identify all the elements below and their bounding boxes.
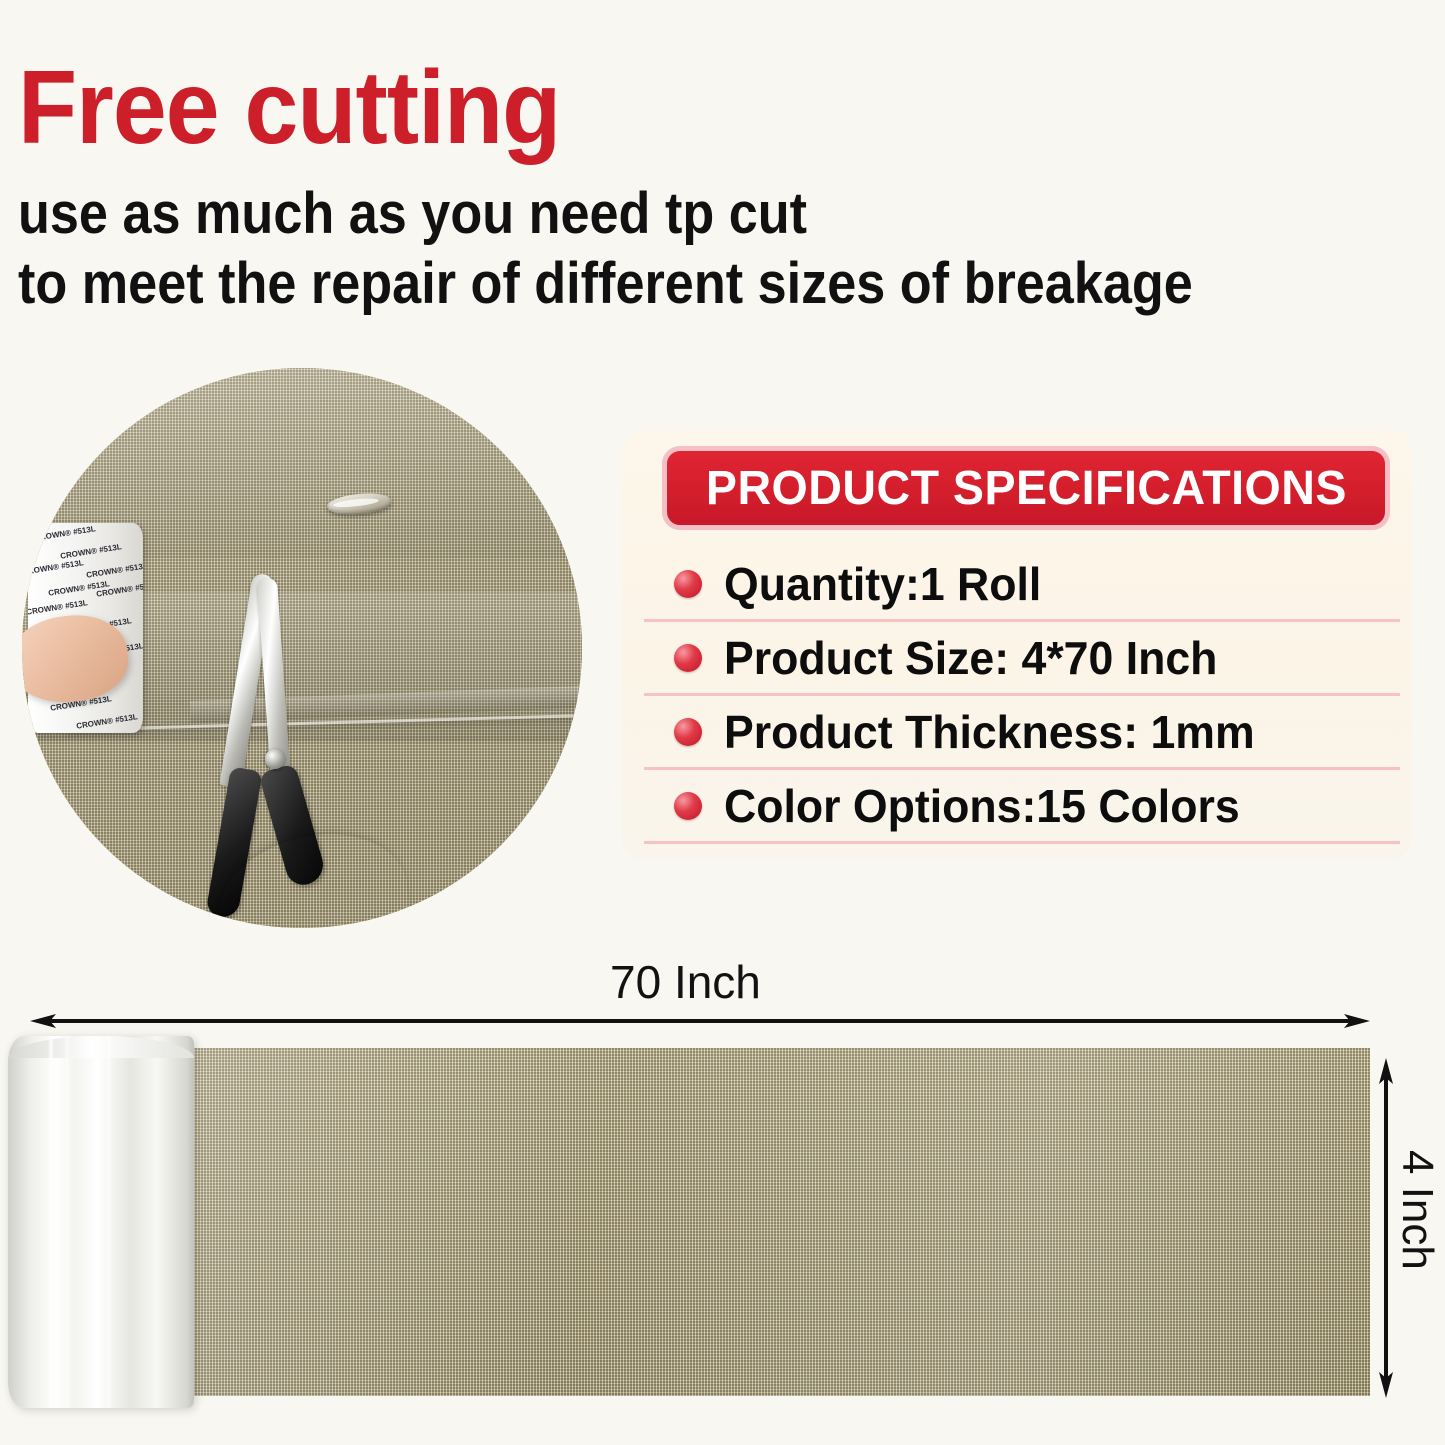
roll-top-edge bbox=[8, 1036, 194, 1058]
roll-highlight bbox=[48, 1036, 54, 1408]
spec-color-options: Color Options:15 Colors bbox=[724, 779, 1240, 833]
list-item: Product Size: 4*70 Inch bbox=[644, 622, 1400, 696]
spec-quantity: Quantity:1 Roll bbox=[724, 557, 1041, 611]
roll-highlight bbox=[64, 1036, 70, 1408]
product-infographic: Free cutting use as much as you need tp … bbox=[0, 0, 1445, 1445]
roll-label: CROWN® #513L bbox=[86, 561, 143, 580]
cutting-demo-photo: CROWN® #513L CROWN® #513L CROWN® #513L C… bbox=[22, 368, 582, 928]
subtitle-line-2: to meet the repair of different sizes of… bbox=[18, 254, 1193, 314]
fabric-strip-sheen bbox=[188, 1048, 1370, 1396]
length-dimension-arrow bbox=[30, 1013, 1370, 1029]
list-item: Product Thickness: 1mm bbox=[644, 696, 1400, 770]
list-item: Quantity:1 Roll bbox=[644, 548, 1400, 622]
roll-highlight bbox=[106, 1036, 112, 1408]
length-dimension-label: 70 Inch bbox=[610, 955, 761, 1009]
spec-product-thickness: Product Thickness: 1mm bbox=[724, 705, 1255, 759]
page-title: Free cutting bbox=[18, 56, 560, 160]
spec-product-size: Product Size: 4*70 Inch bbox=[724, 631, 1217, 685]
specifications-banner-title: PRODUCT SPECIFICATIONS bbox=[706, 461, 1347, 516]
scissors-pivot-screw bbox=[265, 749, 285, 769]
fabric-tape-strip bbox=[188, 1048, 1370, 1396]
product-specifications-panel: PRODUCT SPECIFICATIONS Quantity:1 Roll P… bbox=[622, 430, 1412, 860]
tape-roll-product bbox=[8, 1036, 194, 1408]
specifications-list: Quantity:1 Roll Product Size: 4*70 Inch … bbox=[644, 548, 1400, 844]
list-item: Color Options:15 Colors bbox=[644, 770, 1400, 844]
specifications-banner: PRODUCT SPECIFICATIONS bbox=[662, 446, 1390, 530]
subtitle-line-1: use as much as you need tp cut bbox=[18, 184, 807, 244]
roll-label: CROWN® #513L bbox=[28, 558, 84, 577]
bullet-dot-icon bbox=[674, 792, 702, 820]
roll-label: CROWN® #513L bbox=[34, 524, 97, 543]
bullet-dot-icon bbox=[674, 644, 702, 672]
roll-label: CROWN® #513L bbox=[76, 712, 139, 731]
bullet-dot-icon bbox=[674, 718, 702, 746]
roll-label: CROWN® #513L bbox=[28, 598, 88, 617]
roll-label: CROWN® #513L bbox=[60, 542, 123, 561]
bullet-dot-icon bbox=[674, 570, 702, 598]
width-dimension-label: 4 Inch bbox=[1382, 1150, 1442, 1270]
